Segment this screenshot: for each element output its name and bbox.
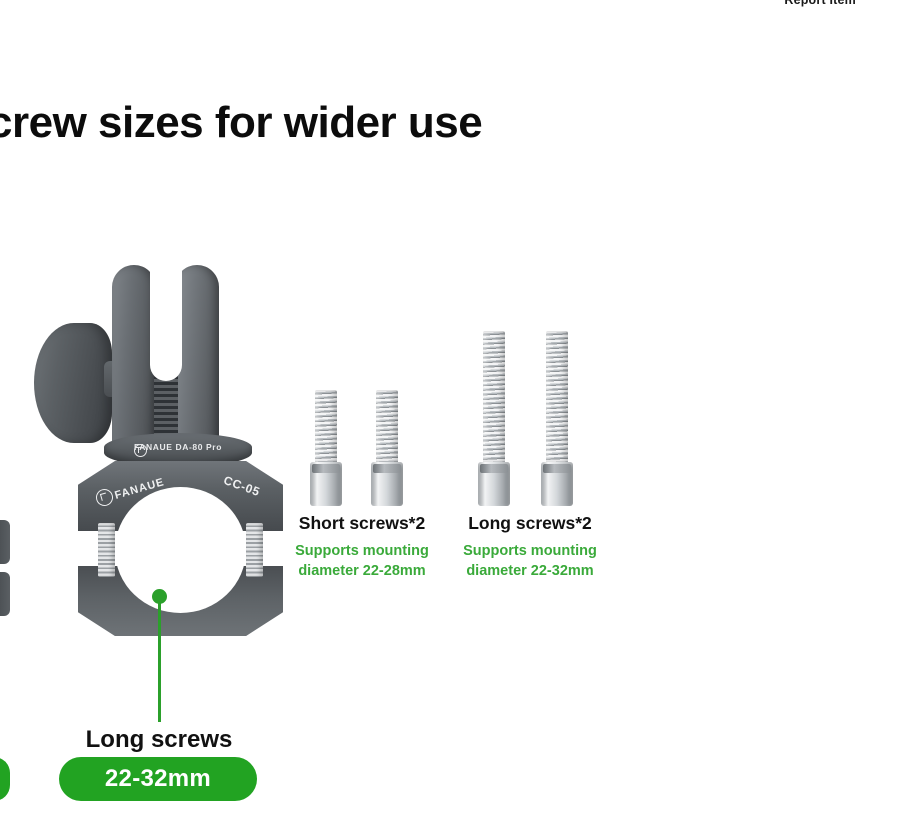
long-screw-2-shaft bbox=[546, 331, 568, 462]
cradle-gap bbox=[150, 261, 182, 381]
edge-graphic-pill bbox=[0, 757, 10, 801]
long-screw-1-shaft bbox=[483, 331, 505, 462]
long-screw-2-head bbox=[541, 462, 573, 506]
short-screw-2-head bbox=[371, 462, 403, 506]
product-detail-page: Report Item crew sizes for wider use FAN… bbox=[0, 0, 901, 821]
short-screw-2-shaft bbox=[376, 390, 398, 462]
u-cradle-head bbox=[112, 265, 240, 455]
short-screw-1-head bbox=[310, 462, 342, 506]
clamp-ring-screw-left bbox=[98, 523, 115, 577]
long-screws-support-line-2: diameter 22-32mm bbox=[450, 561, 610, 581]
long-screw-1-head bbox=[478, 462, 510, 506]
report-item-link[interactable]: Report Item bbox=[784, 0, 856, 7]
long-screws-support-text: Supports mounting diameter 22-32mm bbox=[450, 541, 610, 581]
callout-size-badge: 22-32mm bbox=[59, 757, 257, 801]
thumbscrew-knob bbox=[34, 323, 112, 443]
short-screws-caption: Short screws*2 bbox=[282, 513, 442, 534]
short-screws-support-line-2: diameter 22-28mm bbox=[282, 561, 442, 581]
long-screws-support-line-1: Supports mounting bbox=[450, 541, 610, 561]
long-screws-caption: Long screws*2 bbox=[450, 513, 610, 534]
short-screws-support-line-1: Supports mounting bbox=[282, 541, 442, 561]
collar-brand-label: FANAUE DA-80 Pro bbox=[104, 442, 252, 452]
clamp-ring-screw-right bbox=[246, 523, 263, 577]
clamp-ring-bore bbox=[115, 487, 246, 613]
edge-graphic-chip-2 bbox=[0, 572, 10, 616]
callout-title: Long screws bbox=[0, 726, 318, 754]
octagonal-clamp-ring: FANAUE CC-05 bbox=[78, 461, 283, 636]
page-title: crew sizes for wider use bbox=[0, 98, 482, 148]
clamp-product-image: FANAUE DA-80 Pro FANAUE CC-05 bbox=[30, 265, 280, 665]
short-screw-1-shaft bbox=[315, 390, 337, 462]
edge-graphic-chip-1 bbox=[0, 520, 10, 564]
short-screws-support-text: Supports mounting diameter 22-28mm bbox=[282, 541, 442, 581]
callout-leader-line bbox=[158, 600, 161, 722]
